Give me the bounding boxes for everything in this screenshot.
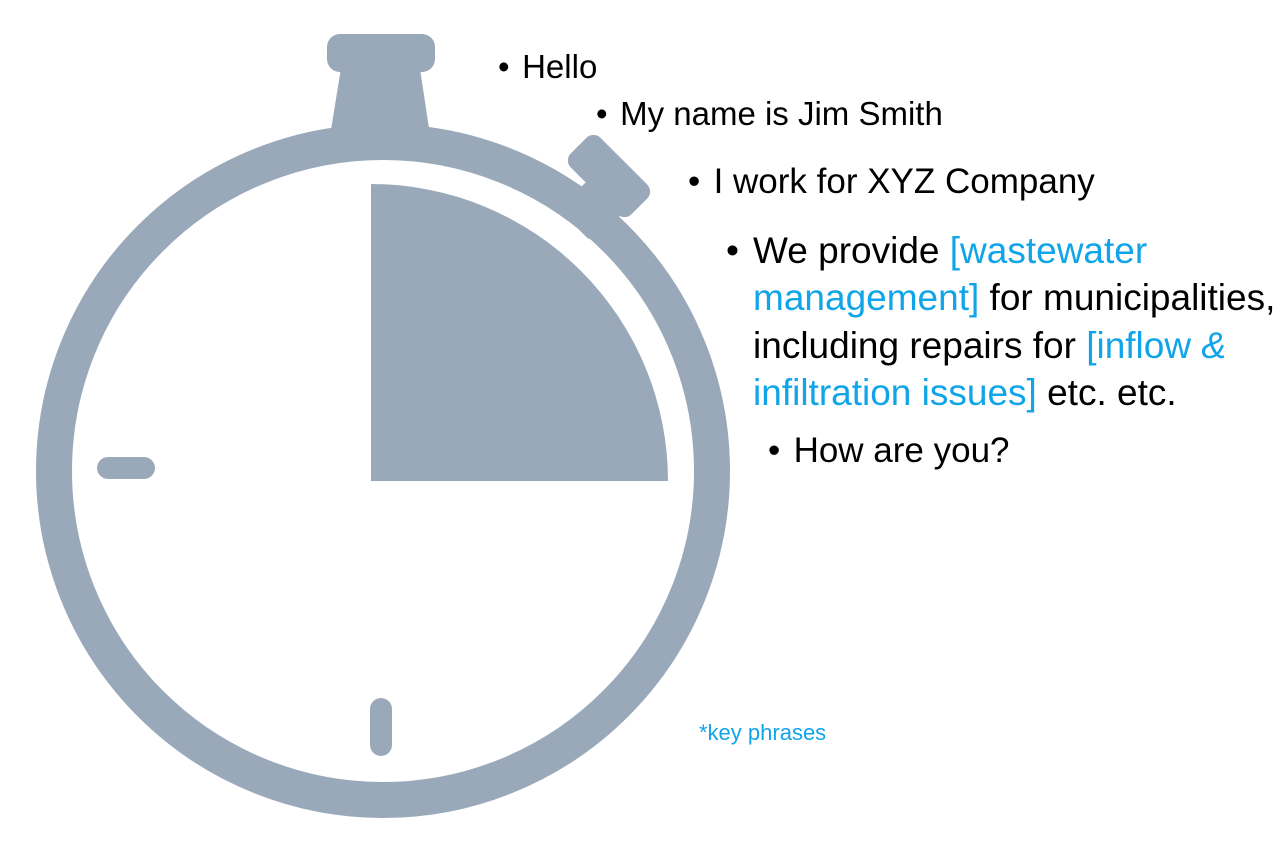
bullet-marker: • [688, 160, 700, 205]
list-item: • My name is Jim Smith [596, 93, 943, 135]
list-item-label: How are you? [794, 429, 1010, 474]
list-item-label: I work for XYZ Company [714, 160, 1095, 205]
list-item-label: My name is Jim Smith [620, 93, 943, 135]
list-item: • How are you? [768, 429, 1010, 474]
bullet-marker: • [596, 93, 608, 135]
bullet-marker: • [726, 227, 739, 274]
list-item: • I work for XYZ Company [688, 160, 1095, 205]
list-item-label: Hello [522, 46, 597, 88]
bullet-list: • Hello • My name is Jim Smith • I work … [0, 0, 1286, 841]
list-item: • We provide [wastewater management] for… [726, 227, 1286, 416]
key-phrases-footnote: *key phrases [699, 720, 826, 746]
slide-canvas: • Hello • My name is Jim Smith • I work … [0, 0, 1286, 841]
list-item-label: We provide [wastewater management] for m… [753, 227, 1286, 416]
bullet-marker: • [498, 46, 510, 88]
bullet-marker: • [768, 429, 780, 474]
list-item: • Hello [498, 46, 597, 88]
